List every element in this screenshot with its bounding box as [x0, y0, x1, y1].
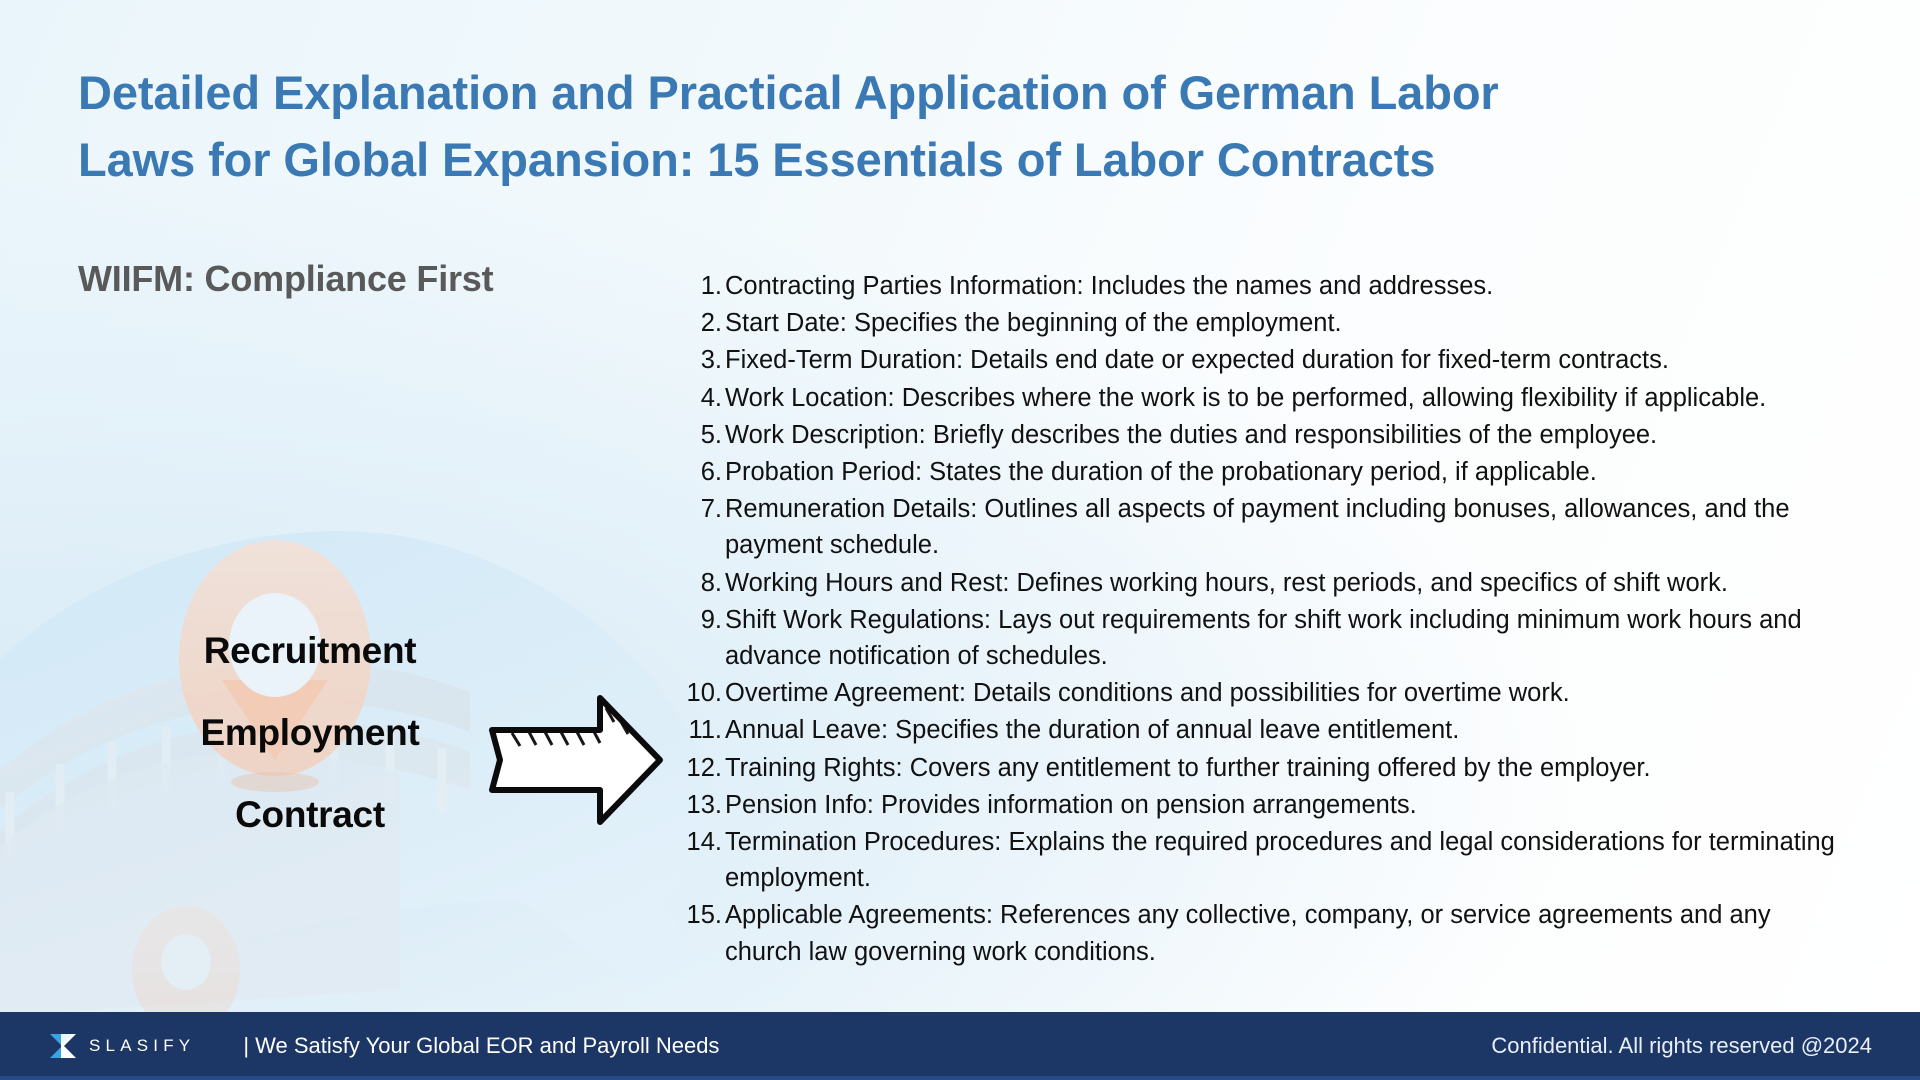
list-item-text: Shift Work Regulations: Lays out require… — [725, 602, 1838, 674]
list-item-number: 5. — [678, 417, 725, 453]
footer-tagline: | We Satisfy Your Global EOR and Payroll… — [243, 1033, 719, 1059]
list-item-number: 9. — [678, 602, 725, 638]
list-item-text: Start Date: Specifies the beginning of t… — [725, 305, 1838, 341]
list-item: 2. Start Date: Specifies the beginning o… — [678, 305, 1838, 341]
list-item-text: Training Rights: Covers any entitlement … — [725, 750, 1838, 786]
list-item-number: 11. — [678, 712, 725, 748]
list-item-number: 1. — [678, 268, 725, 304]
brand-wordmark: SLASIFY — [89, 1036, 195, 1056]
list-item-text: Overtime Agreement: Details conditions a… — [725, 675, 1838, 711]
list-item: 11. Annual Leave: Specifies the duration… — [678, 712, 1838, 748]
list-item-number: 15. — [678, 897, 725, 933]
list-item-number: 6. — [678, 454, 725, 490]
list-item-text: Termination Procedures: Explains the req… — [725, 824, 1838, 896]
graphic-stack-label: Recruitment Employment Contract — [110, 610, 510, 856]
list-item: 4. Work Location: Describes where the wo… — [678, 380, 1838, 416]
page-subtitle: WIIFM: Compliance First — [78, 258, 493, 300]
list-item: 1. Contracting Parties Information: Incl… — [678, 268, 1838, 304]
list-item-number: 7. — [678, 491, 725, 527]
list-item-text: Probation Period: States the duration of… — [725, 454, 1838, 490]
list-item-number: 8. — [678, 565, 725, 601]
stack-line-recruitment: Recruitment — [110, 610, 510, 692]
list-item: 15. Applicable Agreements: References an… — [678, 897, 1838, 969]
list-item-text: Remuneration Details: Outlines all aspec… — [725, 491, 1838, 563]
list-item: 14. Termination Procedures: Explains the… — [678, 824, 1838, 896]
list-item-number: 10. — [678, 675, 725, 711]
slasify-logo-icon — [48, 1031, 78, 1061]
list-item-text: Work Description: Briefly describes the … — [725, 417, 1838, 453]
list-item: 12. Training Rights: Covers any entitlem… — [678, 750, 1838, 786]
list-item-text: Fixed-Term Duration: Details end date or… — [725, 342, 1838, 378]
list-item-number: 13. — [678, 787, 725, 823]
list-item-text: Working Hours and Rest: Defines working … — [725, 565, 1838, 601]
list-item: 9. Shift Work Regulations: Lays out requ… — [678, 602, 1838, 674]
list-item-text: Pension Info: Provides information on pe… — [725, 787, 1838, 823]
list-item-number: 14. — [678, 824, 725, 860]
page-title-line-2: Laws for Global Expansion: 15 Essentials… — [78, 127, 1798, 194]
page-title-line-1: Detailed Explanation and Practical Appli… — [78, 60, 1798, 127]
footer-bar: SLASIFY | We Satisfy Your Global EOR and… — [0, 1012, 1920, 1080]
essentials-list: 1. Contracting Parties Information: Incl… — [678, 268, 1838, 971]
page-title: Detailed Explanation and Practical Appli… — [78, 60, 1798, 193]
list-item-number: 3. — [678, 342, 725, 378]
list-item-text: Annual Leave: Specifies the duration of … — [725, 712, 1838, 748]
footer-brand: SLASIFY — [48, 1031, 195, 1061]
list-item: 6. Probation Period: States the duration… — [678, 454, 1838, 490]
list-item-text: Contracting Parties Information: Include… — [725, 268, 1838, 304]
list-item: 13. Pension Info: Provides information o… — [678, 787, 1838, 823]
list-item: 5. Work Description: Briefly describes t… — [678, 417, 1838, 453]
list-item: 10. Overtime Agreement: Details conditio… — [678, 675, 1838, 711]
map-pin-icon — [132, 906, 240, 1020]
list-item-number: 2. — [678, 305, 725, 341]
footer-copyright: Confidential. All rights reserved @2024 — [1491, 1033, 1872, 1059]
stack-line-contract: Contract — [110, 774, 510, 856]
list-item: 8. Working Hours and Rest: Defines worki… — [678, 565, 1838, 601]
slide-canvas: Detailed Explanation and Practical Appli… — [0, 0, 1920, 1080]
list-item-number: 12. — [678, 750, 725, 786]
list-item-text: Work Location: Describes where the work … — [725, 380, 1838, 416]
list-item-text: Applicable Agreements: References any co… — [725, 897, 1838, 969]
stack-line-employment: Employment — [110, 692, 510, 774]
arrow-right-icon — [492, 698, 660, 822]
list-item-number: 4. — [678, 380, 725, 416]
list-item: 3. Fixed-Term Duration: Details end date… — [678, 342, 1838, 378]
list-item: 7. Remuneration Details: Outlines all as… — [678, 491, 1838, 563]
